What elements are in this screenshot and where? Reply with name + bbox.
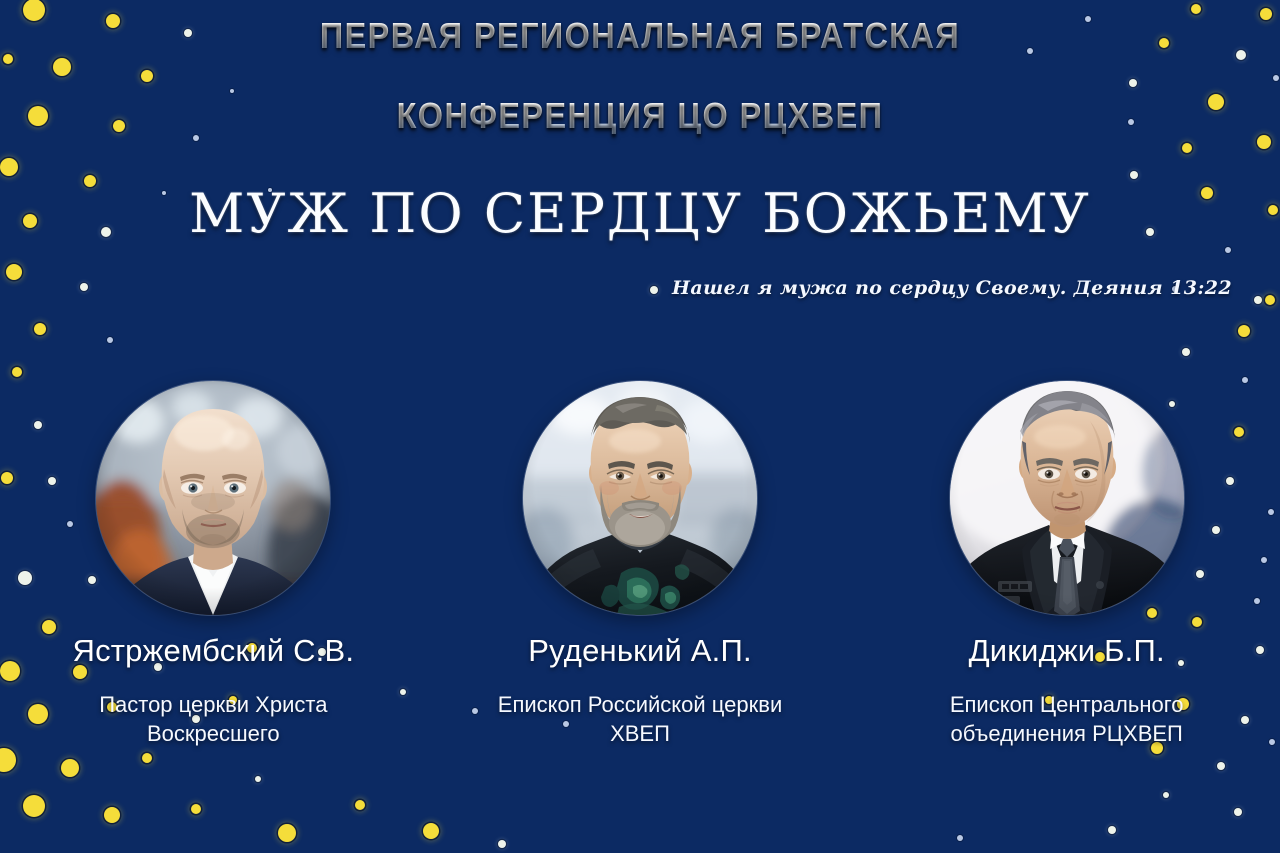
- star-dot: [278, 824, 296, 842]
- portrait-wrap-1: [96, 381, 330, 615]
- star-dot: [1182, 348, 1190, 356]
- star-dot: [1265, 295, 1275, 305]
- avatar-1: [96, 381, 330, 615]
- speakers-row: Ястржембский С.В. Пастор церкви Христа В…: [0, 381, 1280, 801]
- grey-haired-man-in-suit-and-tie-portrait: [950, 381, 1184, 615]
- speaker-card-3: Дикиджи Б.П. Епископ Центрального объеди…: [853, 381, 1280, 801]
- bald-man-in-dark-suit-portrait: [96, 381, 330, 615]
- star-dot: [423, 823, 439, 839]
- star-dot: [80, 283, 88, 291]
- avatar-3: [950, 381, 1184, 615]
- speaker-name-3: Дикиджи Б.П.: [969, 633, 1165, 669]
- page-title: МУЖ ПО СЕРДЦУ БОЖЬЕМУ: [0, 186, 1280, 243]
- avatar-2: [523, 381, 757, 615]
- header-line-2: КОНФЕРЕНЦИЯ ЦО РЦХВЕП: [64, 98, 1216, 134]
- speaker-name-1: Ястржембский С.В.: [72, 633, 354, 669]
- star-dot: [6, 264, 22, 280]
- star-dot: [1191, 4, 1201, 14]
- speaker-role-2: Епископ Российской церкви ХВЕП: [475, 691, 805, 748]
- star-dot: [498, 840, 506, 848]
- speaker-card-2: Руденький А.П. Епископ Российской церкви…: [427, 381, 854, 801]
- speaker-role-1: Пастор церкви Христа Воскресшего: [48, 691, 378, 748]
- star-dot: [650, 286, 658, 294]
- star-dot: [12, 367, 22, 377]
- star-dot: [957, 835, 963, 841]
- speaker-card-1: Ястржембский С.В. Пастор церкви Христа В…: [0, 381, 427, 801]
- scripture-verse: Нашел я мужа по сердцу Своему. Деяния 13…: [672, 277, 1232, 299]
- star-dot: [34, 323, 46, 335]
- star-dot: [1108, 826, 1116, 834]
- star-dot: [1257, 135, 1271, 149]
- header-block: ПЕРВАЯ РЕГИОНАЛЬНАЯ БРАТСКАЯ КОНФЕРЕНЦИЯ…: [0, 18, 1280, 134]
- star-dot: [107, 337, 113, 343]
- star-dot: [104, 807, 120, 823]
- star-dot: [193, 135, 199, 141]
- speaker-role-3: Епископ Центрального объединения РЦХВЕП: [902, 691, 1232, 748]
- star-dot: [1130, 171, 1138, 179]
- star-dot: [1225, 247, 1231, 253]
- bearded-man-in-dark-sweatshirt-portrait: [523, 381, 757, 615]
- star-dot: [1254, 296, 1262, 304]
- portrait-wrap-3: [950, 381, 1184, 615]
- star-dot: [1234, 808, 1242, 816]
- conference-poster: ПЕРВАЯ РЕГИОНАЛЬНАЯ БРАТСКАЯ КОНФЕРЕНЦИЯ…: [0, 0, 1280, 853]
- star-dot: [1238, 325, 1250, 337]
- star-dot: [191, 804, 201, 814]
- star-dot: [355, 800, 365, 810]
- portrait-wrap-2: [523, 381, 757, 615]
- header-line-1: ПЕРВАЯ РЕГИОНАЛЬНАЯ БРАТСКАЯ: [64, 18, 1216, 54]
- speaker-name-2: Руденький А.П.: [528, 633, 752, 669]
- star-dot: [0, 158, 18, 176]
- star-dot: [1182, 143, 1192, 153]
